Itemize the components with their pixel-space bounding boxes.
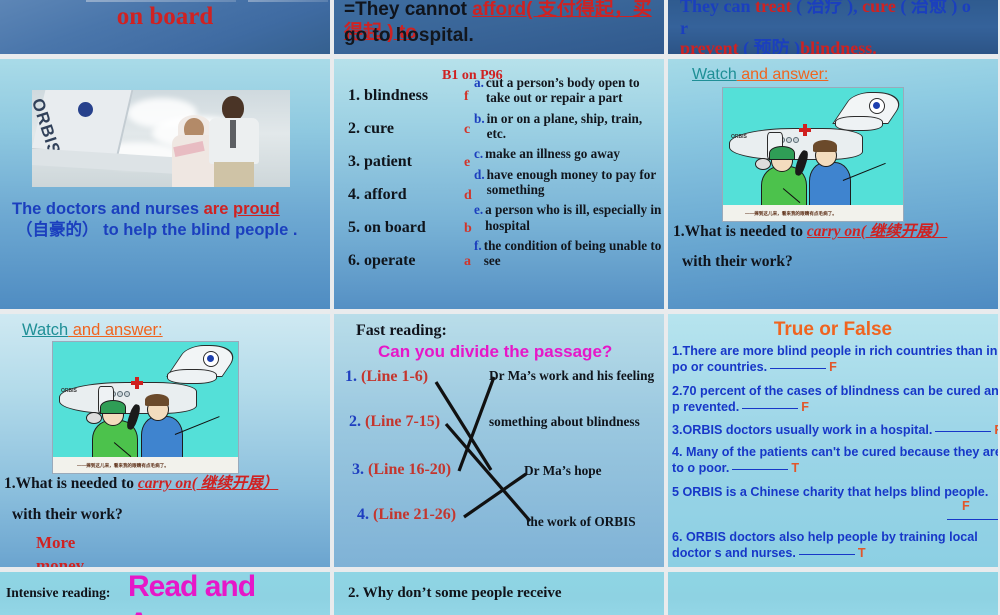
slide-thumb-b1-matching[interactable]: B1 on P96 1. blindness f 2. cure c 3. pa… (334, 59, 664, 309)
tf-row: 3.ORBIS doctors usually work in a hospit… (672, 422, 998, 438)
blindness-word: blindness (800, 38, 872, 54)
treat-word: treat (755, 0, 792, 16)
read-and-answer-title: Read and Answer (128, 572, 330, 615)
b1-num: 1. (348, 87, 360, 104)
fast-reading-left-item: 2. (Line 7-15) (349, 413, 440, 431)
blindness-period: . (872, 38, 877, 54)
b1-word: blindness (364, 87, 428, 104)
b1-def-key: c. (474, 146, 483, 161)
b1-num: 5. (348, 219, 360, 236)
fast-reading-left-item: 4. (Line 21-26) (357, 506, 456, 524)
fr-range: (Line 7-15) (365, 413, 440, 430)
tf-answer: F (962, 498, 970, 514)
tf-answer: T (858, 546, 866, 560)
b1-answer: d (464, 188, 472, 204)
slide-thumb-fast-reading[interactable]: Fast reading: Can you divide the passage… (334, 314, 664, 567)
b1-num: 4. (348, 186, 360, 203)
b1-answer: e (464, 155, 470, 171)
cartoon-engine-upper (167, 369, 217, 384)
cartoon-plane-text: ORBIS (61, 388, 77, 394)
proud-caption-line-1: The doctors and nurses are proud (12, 199, 280, 219)
slide-thumb-watch-answer-2[interactable]: Watch and answer: ORBIS (0, 314, 330, 567)
tf-row: 4. Many of the patients can't be cured b… (672, 444, 998, 476)
b1-word: cure (364, 120, 394, 137)
slide-thumb-true-false[interactable]: True or False 1.There are more blind peo… (668, 314, 998, 567)
b1-def-item: d. have enough money to pay for somethin… (474, 167, 664, 198)
person-man (208, 96, 260, 187)
cure-word: cure (862, 0, 896, 16)
b1-answer: a (464, 254, 471, 270)
cartoon-hair (145, 394, 169, 406)
cartoon-plane-body (729, 128, 863, 160)
tf-answer: F (829, 360, 837, 374)
proud-keyword: proud (233, 200, 280, 218)
b1-word: on board (364, 219, 426, 236)
fr-num: 4. (357, 506, 369, 523)
q-lead: 1.What is needed to (673, 223, 807, 240)
b1-def-item: c. make an illness go away (474, 146, 664, 161)
tf-text: 3.ORBIS doctors usually work in a hospit… (672, 423, 932, 437)
and-answer-words: and answer: (68, 321, 162, 339)
slide-thumb-why-dont[interactable]: 2. Why don’t some people receive (334, 572, 664, 615)
tf-text: 4. Many of the patients can't be cured b… (672, 445, 998, 475)
treat-line-3: prevent ( 预防 )blindness. (680, 38, 877, 54)
cartoon-hair (813, 140, 837, 152)
cartoon-window (786, 137, 792, 143)
b1-def-key: f. (474, 238, 482, 269)
cartoon-surgeon-cap (769, 146, 795, 160)
tf-answer: F (801, 400, 809, 414)
tf-row: 1.There are more blind people in rich co… (672, 343, 998, 375)
watch-question-1b: with their work? (682, 253, 793, 272)
orbis-cartoon-2: ORBIS ——摔到这儿来，看来我的眼睛有点毛病了。 (52, 341, 239, 474)
slide-thumb-on-board[interactable]: on board (0, 0, 330, 54)
cartoon-window (124, 391, 130, 397)
and-answer-words: and answer: (737, 66, 829, 83)
b1-word: afford (364, 186, 407, 203)
b1-def-key: b. (474, 111, 485, 142)
carry-on-phrase: carry on( 继续开展） (807, 223, 947, 240)
cartoon-caption-text: ——摔到这儿来，看来我的眼睛有点毛病了。 (77, 463, 169, 469)
b1-def-item: f. the condition of being unable to see (474, 238, 664, 269)
orbis-photo: ORBIS (32, 90, 290, 187)
watch-question-1a: 1.What is needed to carry on( 继续开展） (673, 223, 947, 242)
slide-title-on-board: on board (0, 2, 330, 33)
treat-lead: They can (680, 0, 755, 16)
tf-blank (742, 407, 798, 409)
fast-reading-right-item: the work of ORBIS (526, 514, 636, 530)
b1-def-text: a person who is ill, especially in hospi… (485, 202, 664, 233)
cure-gloss: ( 治愈 ) o (896, 0, 971, 16)
tf-blank (799, 553, 855, 555)
watch-word: Watch (692, 66, 737, 83)
afford-keyword: afford (472, 0, 526, 20)
fast-reading-left-item: 1. (Line 1-6) (345, 368, 428, 386)
prevent-word: prevent (680, 38, 739, 54)
tf-row: 6. ORBIS doctors also help people by tra… (672, 529, 998, 561)
pointer-line-1 (175, 416, 220, 435)
b1-word: operate (364, 252, 416, 269)
fast-reading-right-item: Dr Ma’s work and his feeling (489, 368, 654, 384)
fr-range: (Line 16-20) (368, 461, 451, 478)
b1-answer: b (464, 221, 472, 237)
cartoon-plane-text: ORBIS (731, 134, 747, 140)
red-cross-horizontal (799, 128, 811, 132)
divide-passage-heading: Can you divide the passage? (378, 342, 612, 363)
tf-blank (732, 468, 788, 470)
prevent-gloss: ( 预防 ) (739, 38, 801, 54)
slide-thumb-afford[interactable]: =They cannot afford( 支付得起，买得起 ) to go to… (334, 0, 664, 54)
watch-answer-title-2: Watch and answer: (22, 320, 163, 340)
fast-reading-heading: Fast reading: (356, 321, 447, 341)
intensive-reading-label: Intensive reading: (6, 585, 110, 601)
fr-range: (Line 1-6) (361, 368, 428, 385)
treat-gloss: ( 治疗 ), (792, 0, 863, 16)
cartoon-caption-text: ——摔到这儿来，看来我的眼睛有点毛病了。 (745, 211, 837, 217)
b1-def-key: a. (474, 75, 484, 106)
b1-def-text: in or on a plane, ship, train, etc. (487, 111, 664, 142)
b1-answer: f (464, 89, 469, 105)
watch-word: Watch (22, 321, 68, 339)
b1-num: 2. (348, 120, 360, 137)
tf-text: 6. ORBIS doctors also help people by tra… (672, 530, 978, 560)
proud-caption-line-2: （自豪的） to help the blind people . (16, 220, 297, 240)
fr-range: (Line 21-26) (373, 506, 456, 523)
tf-blank (770, 367, 826, 369)
orbis-cartoon-1: ORBIS ——摔到这儿来，看来我的眼睛有点毛病了。 (722, 87, 904, 222)
fast-reading-right-item: something about blindness (489, 414, 640, 430)
b1-def-text: cut a person’s body open to take out or … (486, 75, 664, 106)
b1-def-key: d. (474, 167, 485, 198)
proud-caption-b: are (204, 200, 233, 218)
orbis-logo-dot (78, 102, 93, 117)
slide-thumb-intensive-reading[interactable]: Intensive reading: Read and Answer (0, 572, 330, 615)
fr-num: 1. (345, 368, 357, 385)
b1-def-item: b. in or on a plane, ship, train, etc. (474, 111, 664, 142)
tf-blank (947, 518, 998, 520)
b1-num: 6. (348, 252, 360, 269)
watch-answer-more: More (36, 533, 75, 554)
b1-answer: c (464, 122, 470, 138)
tf-answer: T (791, 461, 799, 475)
tf-row: 2.70 percent of the cases of blindness c… (672, 383, 998, 415)
b1-def-item: e. a person who is ill, especially in ho… (474, 202, 664, 233)
fast-reading-right-item: Dr Ma’s hope (524, 463, 602, 479)
slide-thumbnail-grid: on board =They cannot afford( 支付得起，买得起 )… (0, 0, 1000, 600)
b1-def-key: e. (474, 202, 483, 233)
slide-thumb-watch-answer-1[interactable]: Watch and answer: ORBIS (668, 59, 998, 309)
fast-reading-left-item: 3. (Line 16-20) (352, 461, 451, 479)
cartoon-eye-pupil (873, 102, 880, 109)
proud-caption-d: （自豪的） (16, 221, 103, 239)
watch-question-2a: 1.What is needed to carry on( 继续开展） (4, 475, 278, 494)
true-false-title: True or False (668, 318, 998, 341)
watch-answer-money: money (36, 556, 84, 567)
red-cross-horizontal (131, 381, 143, 385)
b1-right-column: a. cut a person’s body open to take out … (474, 75, 664, 273)
slide-thumb-doctors-proud[interactable]: ORBIS The doctors and nurses are proud （… (0, 59, 330, 309)
proud-caption-a: The doctors and nurses (12, 200, 204, 218)
watch-answer-title-1: Watch and answer: (692, 65, 828, 85)
tf-answer: F (994, 423, 998, 437)
fr-num: 2. (349, 413, 361, 430)
q-lead: 1.What is needed to (4, 475, 138, 492)
b1-def-text: have enough money to pay for something (487, 167, 664, 198)
cartoon-eye-pupil (207, 355, 214, 362)
treat-line-1: They can treat ( 治疗 ), cure ( 治愈 ) o (680, 0, 971, 18)
fr-num: 3. (352, 461, 364, 478)
tf-row: 5 ORBIS is a Chinese charity that helps … (672, 484, 998, 500)
slide-thumb-treat-cure[interactable]: They can treat ( 治疗 ), cure ( 治愈 ) o r p… (668, 0, 998, 54)
watch-question-2b: with their work? (12, 506, 123, 525)
cartoon-window (117, 391, 123, 397)
cartoon-plane-body (59, 382, 197, 414)
tf-text: 2.70 percent of the cases of blindness c… (672, 384, 998, 414)
tf-blank (935, 430, 991, 432)
cartoon-surgeon-cap (100, 400, 126, 414)
afford-prefix: =They cannot (344, 0, 472, 20)
b1-def-text: the condition of being unable to see (484, 238, 664, 269)
slide-thumb-blank[interactable] (668, 572, 998, 615)
proud-caption-e: to help the blind people . (103, 221, 297, 239)
cartoon-window (793, 137, 799, 143)
b1-num: 3. (348, 153, 360, 170)
b1-def-item: a. cut a person’s body open to take out … (474, 75, 664, 106)
tf-text: 5 ORBIS is a Chinese charity that helps … (672, 485, 988, 499)
carry-on-phrase: carry on( 继续开展） (138, 475, 278, 492)
treat-line-2: r (680, 18, 688, 40)
b1-word: patient (364, 153, 412, 170)
b1-def-text: make an illness go away (485, 146, 620, 161)
cartoon-engine-upper (835, 116, 883, 131)
afford-line-2: go to hospital. (344, 24, 474, 47)
